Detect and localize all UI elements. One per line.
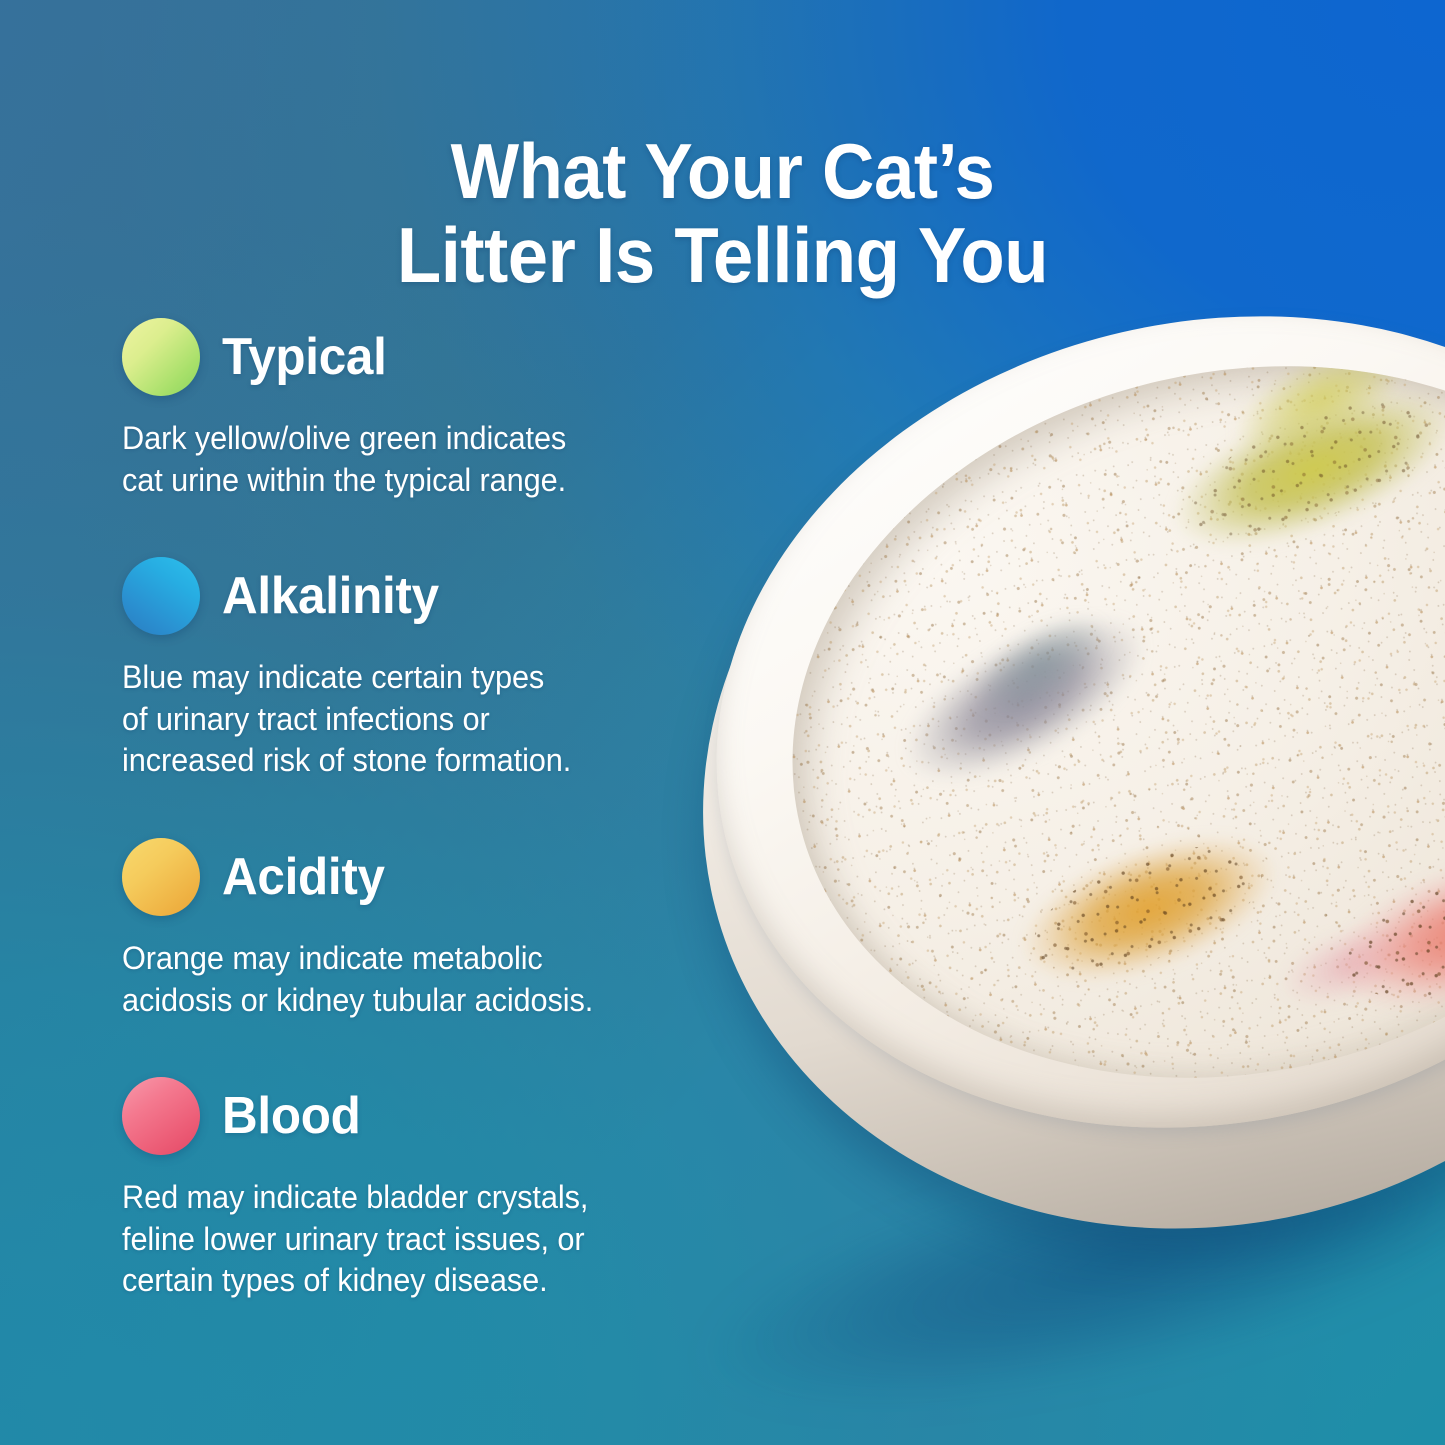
page-title-line-2: Litter Is Telling You [51,214,1395,297]
litter-color-guide-poster: What Your Cat’s Litter Is Telling You Ty… [0,0,1445,1445]
legend-item-alkalinity-description: Blue may indicate certain types of urina… [122,657,660,782]
legend-item-typical-description: Dark yellow/olive green indicates cat ur… [122,418,660,501]
legend-item-alkalinity-label: Alkalinity [222,570,439,622]
green-dot-icon [122,318,200,396]
legend-item-blood: Blood Red may indicate bladder crystals,… [122,1077,682,1302]
legend-item-alkalinity: Alkalinity Blue may indicate certain typ… [122,557,682,782]
page-title-line-1: What Your Cat’s [451,127,995,215]
legend-item-acidity-description: Orange may indicate metabolic acidosis o… [122,938,660,1021]
legend-item-blood-description: Red may indicate bladder crystals, felin… [122,1177,660,1302]
legend-item-alkalinity-header: Alkalinity [122,557,682,635]
legend-list: Typical Dark yellow/olive green indicate… [122,318,682,1302]
page-title: What Your Cat’s Litter Is Telling You [51,130,1395,297]
pink-dot-icon [122,1077,200,1155]
legend-item-acidity-header: Acidity [122,838,682,916]
legend-item-typical: Typical Dark yellow/olive green indicate… [122,318,682,501]
legend-item-typical-label: Typical [222,331,387,383]
legend-item-blood-label: Blood [222,1090,361,1142]
orange-dot-icon [122,838,200,916]
legend-item-acidity-label: Acidity [222,851,385,903]
legend-item-blood-header: Blood [122,1077,682,1155]
blue-dot-icon [122,557,200,635]
legend-item-typical-header: Typical [122,318,682,396]
poster-content: What Your Cat’s Litter Is Telling You Ty… [0,0,1445,1445]
legend-item-acidity: Acidity Orange may indicate metabolic ac… [122,838,682,1021]
